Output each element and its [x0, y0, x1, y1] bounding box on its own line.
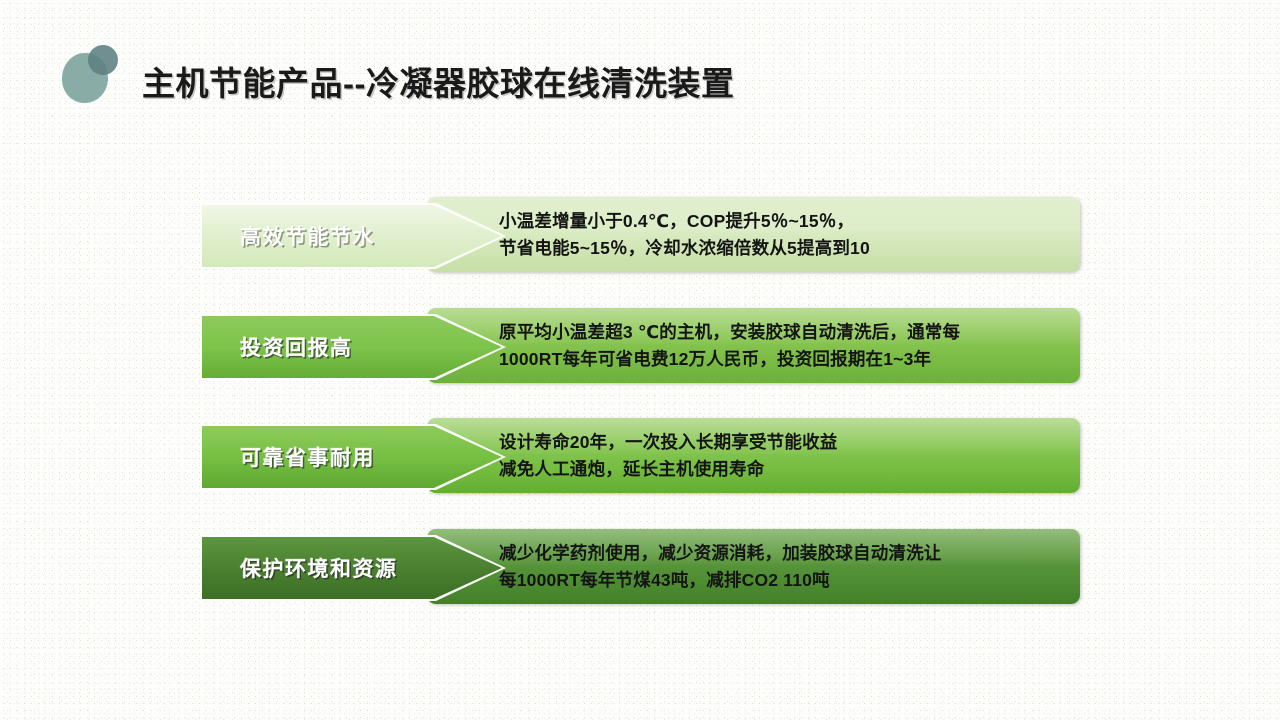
benefit-content-text: 小温差增量小于0.4℃，COP提升5％~15％， 节省电能5~15％，冷却水浓缩… [499, 207, 870, 261]
benefit-rows-list: 小温差增量小于0.4℃，COP提升5％~15％， 节省电能5~15％，冷却水浓缩… [0, 0, 1280, 720]
benefit-label-text: 可靠省事耐用 [240, 442, 375, 472]
benefit-content-text: 减少化学药剂使用，减少资源消耗，加装胶球自动清洗让 每1000RT每年节煤43吨… [499, 539, 942, 593]
benefit-label-text: 保护环境和资源 [240, 553, 398, 583]
benefit-content-text: 设计寿命20年，一次投入长期享受节能收益 减免人工通炮，延长主机使用寿命 [499, 428, 837, 482]
benefit-content-text: 原平均小温差超3 ℃的主机，安装胶球自动清洗后，通常每 1000RT每年可省电费… [499, 318, 960, 372]
benefit-label-text: 投资回报高 [240, 332, 353, 362]
benefit-content-panel: 减少化学药剂使用，减少资源消耗，加装胶球自动清洗让 每1000RT每年节煤43吨… [427, 529, 1080, 604]
benefit-row: 设计寿命20年，一次投入长期享受节能收益 减免人工通炮，延长主机使用寿命 可靠省… [202, 418, 1080, 493]
benefit-label-text: 高效节能节水 [240, 221, 375, 251]
benefit-row: 减少化学药剂使用，减少资源消耗，加装胶球自动清洗让 每1000RT每年节煤43吨… [202, 529, 1080, 604]
benefit-content-panel: 原平均小温差超3 ℃的主机，安装胶球自动清洗后，通常每 1000RT每年可省电费… [427, 308, 1080, 383]
benefit-row: 小温差增量小于0.4℃，COP提升5％~15％， 节省电能5~15％，冷却水浓缩… [202, 197, 1080, 272]
slide-canvas: 主机节能产品--冷凝器胶球在线清洗装置 小温差增量小于0.4℃，COP提升5％~… [0, 0, 1280, 720]
benefit-row: 原平均小温差超3 ℃的主机，安装胶球自动清洗后，通常每 1000RT每年可省电费… [202, 308, 1080, 383]
benefit-content-panel: 小温差增量小于0.4℃，COP提升5％~15％， 节省电能5~15％，冷却水浓缩… [427, 197, 1080, 272]
benefit-content-panel: 设计寿命20年，一次投入长期享受节能收益 减免人工通炮，延长主机使用寿命 [427, 418, 1080, 493]
